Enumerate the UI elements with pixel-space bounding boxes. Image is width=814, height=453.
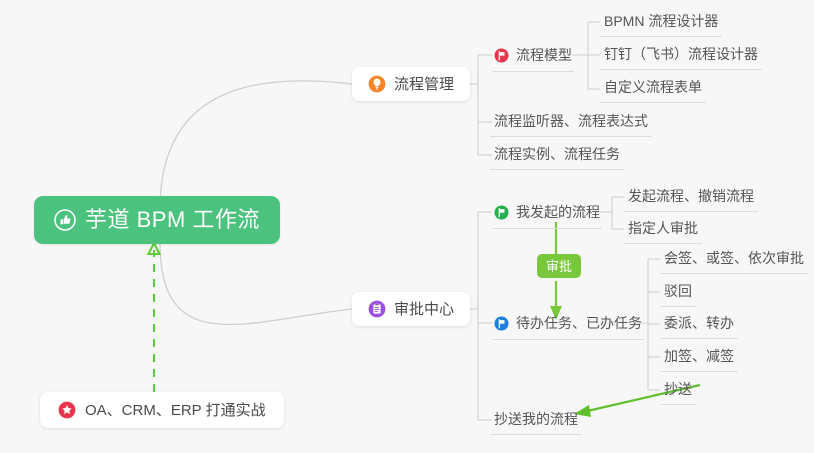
branch-node-approval-center[interactable]: 审批中心 [352,292,470,326]
branch-label: 审批中心 [394,302,454,317]
leaf-node-cc-to-me-processes[interactable]: 抄送我的流程 [490,409,582,435]
lightbulb-icon [368,75,386,93]
thumbs-up-icon [54,209,76,231]
node-label: 待办任务、已办任务 [516,316,642,330]
leaf-label: 发起流程、撤销流程 [628,188,754,204]
leaf-label: 流程监听器、流程表达式 [494,113,648,129]
branch-node-process-management[interactable]: 流程管理 [352,67,470,101]
leaf-node-bpmn-designer[interactable]: BPMN 流程设计器 [600,11,722,37]
node-label: 流程模型 [516,48,572,62]
leaf-label: 指定人审批 [628,220,698,236]
leaf-node-dingtalk-feishu-designer[interactable]: 钉钉（飞书）流程设计器 [600,44,762,70]
node-my-initiated-processes[interactable]: 我发起的流程 [492,201,602,229]
leaf-node-delegate-transfer[interactable]: 委派、转办 [660,313,738,339]
note-label: OA、CRM、ERP 打通实战 [85,403,266,418]
node-process-model[interactable]: 流程模型 [492,44,574,72]
leaf-label: 会签、或签、依次审批 [664,250,804,266]
leaf-label: 抄送 [664,381,692,397]
branch-label: 流程管理 [394,77,454,92]
leaf-node-instance-task[interactable]: 流程实例、流程任务 [490,144,624,170]
leaf-label: 钉钉（飞书）流程设计器 [604,46,758,62]
flag-icon [494,205,509,220]
root-label: 芋道 BPM 工作流 [85,209,260,231]
node-todo-done-tasks[interactable]: 待办任务、已办任务 [492,312,644,340]
leaf-node-listener-expression[interactable]: 流程监听器、流程表达式 [490,111,652,137]
leaf-node-custom-process-form[interactable]: 自定义流程表单 [600,77,706,103]
node-label: 我发起的流程 [516,205,600,219]
annotation-label: 审批 [546,260,572,273]
star-icon [58,401,76,419]
annotation-badge-approve: 审批 [537,254,581,278]
root-node[interactable]: 芋道 BPM 工作流 [34,196,280,244]
leaf-node-start-cancel-process[interactable]: 发起流程、撤销流程 [624,186,758,212]
flag-icon [494,316,509,331]
leaf-node-assignee-approval[interactable]: 指定人审批 [624,218,702,244]
leaf-label: BPMN 流程设计器 [604,13,718,29]
leaf-node-add-remove-sign[interactable]: 加签、减签 [660,346,738,372]
flag-icon [494,48,509,63]
leaf-label: 委派、转办 [664,315,734,331]
note-node-integration[interactable]: OA、CRM、ERP 打通实战 [40,392,284,428]
leaf-label: 驳回 [664,283,692,299]
leaf-node-cc[interactable]: 抄送 [660,379,696,405]
leaf-node-countersign-orsign-sequential[interactable]: 会签、或签、依次审批 [660,248,808,274]
leaf-label: 抄送我的流程 [494,411,578,427]
leaf-node-reject[interactable]: 驳回 [660,281,696,307]
leaf-label: 流程实例、流程任务 [494,146,620,162]
mindmap-canvas: 芋道 BPM 工作流 流程管理 流程模型 BPMN 流程设计器 钉钉（飞书 [0,0,814,453]
clipboard-icon [368,300,386,318]
leaf-label: 自定义流程表单 [604,79,702,95]
leaf-label: 加签、减签 [664,348,734,364]
